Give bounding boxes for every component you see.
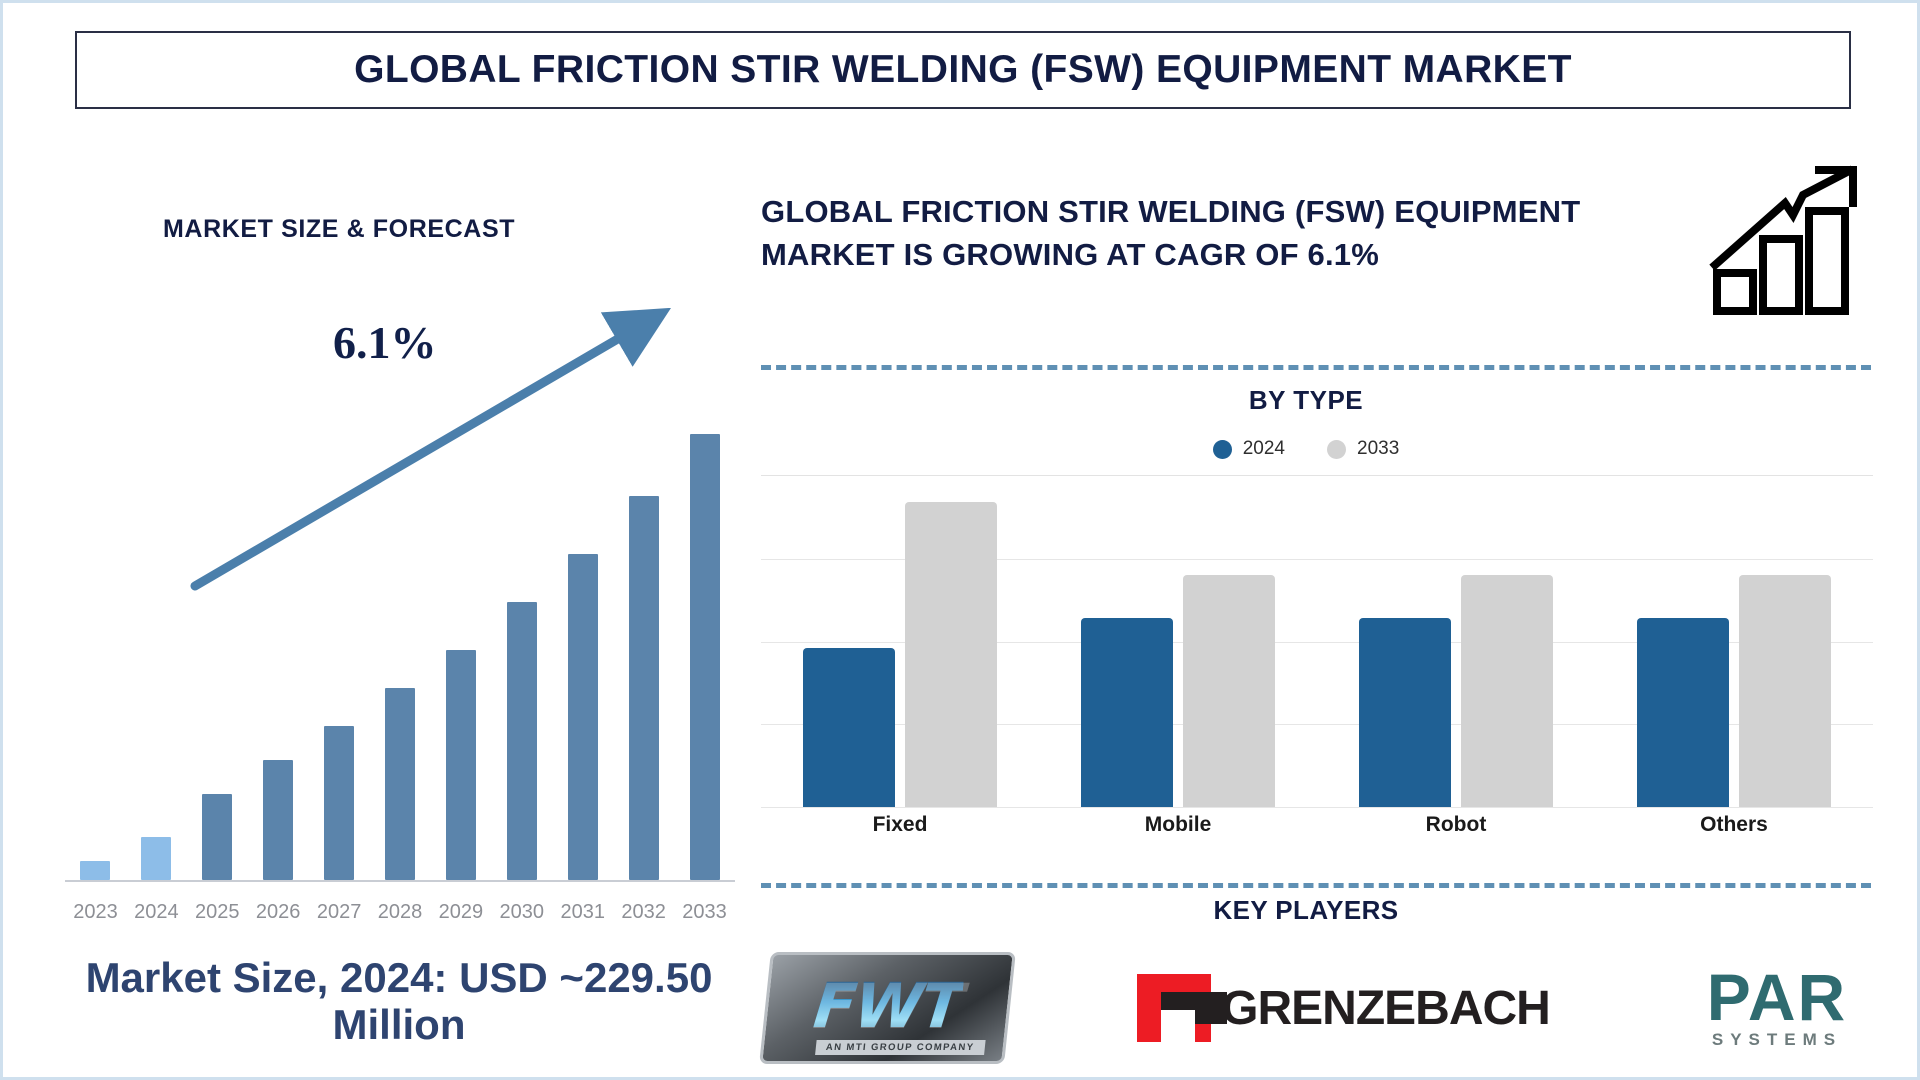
market-forecast-chart: 6.1% 20232024202520262027202820292030203… (55, 308, 735, 988)
logo-grenzebach-name: GRENZEBACH (1221, 981, 1550, 1036)
type-bar-2033 (905, 502, 997, 807)
forecast-year-label: 2027 (309, 901, 370, 924)
type-bar-2033 (1739, 575, 1831, 807)
forecast-year-label: 2028 (370, 901, 431, 924)
forecast-bar-column (430, 400, 491, 880)
type-bar-2024 (1359, 618, 1451, 807)
forecast-bar-column (309, 400, 370, 880)
forecast-bar (568, 554, 598, 880)
forecast-year-label: 2031 (552, 901, 613, 924)
forecast-year-label: 2024 (126, 901, 187, 924)
forecast-bar (141, 837, 171, 880)
type-bar-group (1317, 476, 1595, 807)
forecast-bar-column (674, 400, 735, 880)
by-type-bars (761, 476, 1873, 807)
legend-item-2033[interactable]: 2033 (1327, 438, 1399, 460)
cagr-annotation: 6.1% (333, 316, 437, 369)
logo-fwt-tagline: AN MTI GROUP COMPANY (815, 1040, 985, 1055)
growth-bar-arrow-icon (1703, 165, 1863, 315)
by-type-chart (761, 475, 1873, 807)
legend-label: 2033 (1357, 438, 1399, 460)
logo-fwt-name: FWT (810, 969, 965, 1042)
type-bar-2024 (1081, 618, 1173, 807)
by-type-heading: BY TYPE (751, 385, 1861, 416)
market-size-forecast-heading: MARKET SIZE & FORECAST (163, 215, 515, 244)
forecast-bar-column (370, 400, 431, 880)
page-title: GLOBAL FRICTION STIR WELDING (FSW) EQUIP… (354, 48, 1572, 92)
forecast-bar (202, 794, 232, 880)
forecast-bar (690, 434, 720, 880)
type-bar-group (761, 476, 1039, 807)
forecast-axis-line (65, 880, 735, 882)
forecast-bar-column (187, 400, 248, 880)
forecast-bar (263, 760, 293, 880)
forecast-bar (446, 650, 476, 880)
forecast-bar (80, 861, 110, 880)
forecast-bar-column (248, 400, 309, 880)
forecast-year-label: 2030 (491, 901, 552, 924)
legend-item-2024[interactable]: 2024 (1213, 438, 1285, 460)
forecast-year-label: 2033 (674, 901, 735, 924)
forecast-year-label: 2025 (187, 901, 248, 924)
logo-par-name: PAR (1677, 966, 1877, 1029)
gridline (761, 807, 1873, 808)
forecast-year-label: 2023 (65, 901, 126, 924)
logo-grenzebach: GRENZEBACH (1137, 974, 1550, 1042)
type-bar-group (1039, 476, 1317, 807)
forecast-bars (65, 400, 735, 880)
forecast-bar-column (65, 400, 126, 880)
forecast-bar (507, 602, 537, 880)
forecast-bar-column (126, 400, 187, 880)
type-bar-2024 (1637, 618, 1729, 807)
forecast-bar (385, 688, 415, 880)
type-category-label: Others (1595, 813, 1873, 837)
key-players-logos: FWT AN MTI GROUP COMPANY GRENZEBACH PAR … (751, 943, 1891, 1073)
market-size-note: Market Size, 2024: USD ~229.50 Million (63, 954, 735, 1048)
divider-top (761, 365, 1871, 370)
type-bar-group (1595, 476, 1873, 807)
type-bar-2033 (1183, 575, 1275, 807)
type-category-label: Mobile (1039, 813, 1317, 837)
type-category-label: Fixed (761, 813, 1039, 837)
forecast-bar-column (613, 400, 674, 880)
forecast-year-labels: 2023202420252026202720282029203020312032… (65, 901, 735, 924)
legend-dot-icon (1213, 440, 1232, 459)
type-bar-2024 (803, 648, 895, 807)
by-type-category-labels: FixedMobileRobotOthers (761, 813, 1873, 837)
type-category-label: Robot (1317, 813, 1595, 837)
forecast-year-label: 2026 (248, 901, 309, 924)
type-bar-2033 (1461, 575, 1553, 807)
forecast-year-label: 2029 (430, 901, 491, 924)
legend-label: 2024 (1243, 438, 1285, 460)
forecast-bar-column (552, 400, 613, 880)
page-title-box: GLOBAL FRICTION STIR WELDING (FSW) EQUIP… (75, 31, 1851, 109)
key-players-heading: KEY PLAYERS (751, 895, 1861, 926)
right-panel: GLOBAL FRICTION STIR WELDING (FSW) EQUIP… (751, 153, 1881, 1043)
market-size-forecast-panel: MARKET SIZE & FORECAST 6.1% 202320242025… (43, 133, 723, 1043)
forecast-bar-column (491, 400, 552, 880)
logo-fwt: FWT AN MTI GROUP COMPANY (759, 952, 1016, 1064)
growth-statement: GLOBAL FRICTION STIR WELDING (FSW) EQUIP… (761, 191, 1661, 277)
forecast-year-label: 2032 (613, 901, 674, 924)
by-type-legend: 20242033 (751, 438, 1861, 460)
forecast-bar (324, 726, 354, 880)
logo-par-systems: PAR SYSTEMS (1677, 966, 1877, 1051)
infographic-page: GLOBAL FRICTION STIR WELDING (FSW) EQUIP… (0, 0, 1920, 1080)
forecast-bar (629, 496, 659, 880)
grenzebach-mark-icon (1137, 974, 1211, 1042)
legend-dot-icon (1327, 440, 1346, 459)
divider-bottom (761, 883, 1871, 888)
